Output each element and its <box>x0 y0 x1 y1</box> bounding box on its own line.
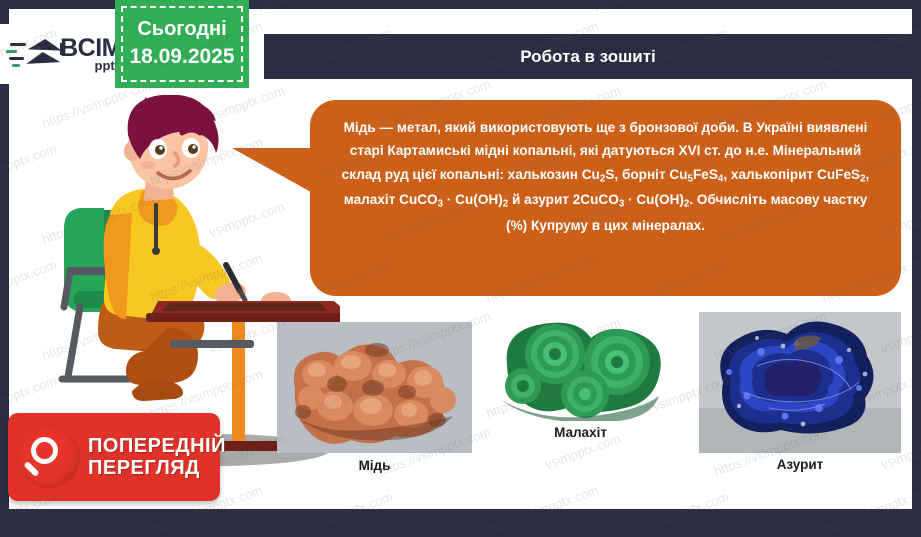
logo-text: BCIM pptx <box>60 36 122 72</box>
graduation-cap-icon <box>24 35 56 73</box>
speech-bubble-tail <box>232 148 318 196</box>
brand-logo[interactable]: BCIM pptx <box>0 24 122 84</box>
date-value: 18.09.2025 <box>129 43 234 71</box>
page-title: Робота в зошиті <box>520 47 656 67</box>
header-bar: Робота в зошиті <box>264 34 912 79</box>
copper-photo <box>277 322 472 453</box>
caption-azurite: Азурит <box>699 457 901 472</box>
caption-malachite: Малахіт <box>493 425 668 440</box>
watermark-text: vsimpptx.com <box>759 0 839 8</box>
slide-root: Мідь Малахіт Азурит Мідь — метал, який в… <box>0 0 921 518</box>
malachite-photo <box>493 316 668 421</box>
watermark-text: vsimpptx.com <box>423 0 503 8</box>
preview-label-line2: ПЕРЕГЛЯД <box>88 457 226 479</box>
task-text: Мідь — метал, який використовують ще з б… <box>332 116 879 237</box>
date-badge: Сьогодні 18.09.2025 <box>115 0 249 88</box>
preview-label-line1: ПОПЕРЕДНІЙ <box>88 435 226 457</box>
caption-copper: Мідь <box>277 458 472 473</box>
preview-label: ПОПЕРЕДНІЙ ПЕРЕГЛЯД <box>88 435 226 480</box>
speed-lines-icon <box>6 39 23 69</box>
azurite-photo <box>699 312 901 453</box>
magnifier-icon <box>18 426 80 488</box>
date-label: Сьогодні <box>137 16 226 43</box>
preview-badge[interactable]: ПОПЕРЕДНІЙ ПЕРЕГЛЯД <box>8 413 220 501</box>
speech-bubble: Мідь — метал, який використовують ще з б… <box>310 100 901 296</box>
